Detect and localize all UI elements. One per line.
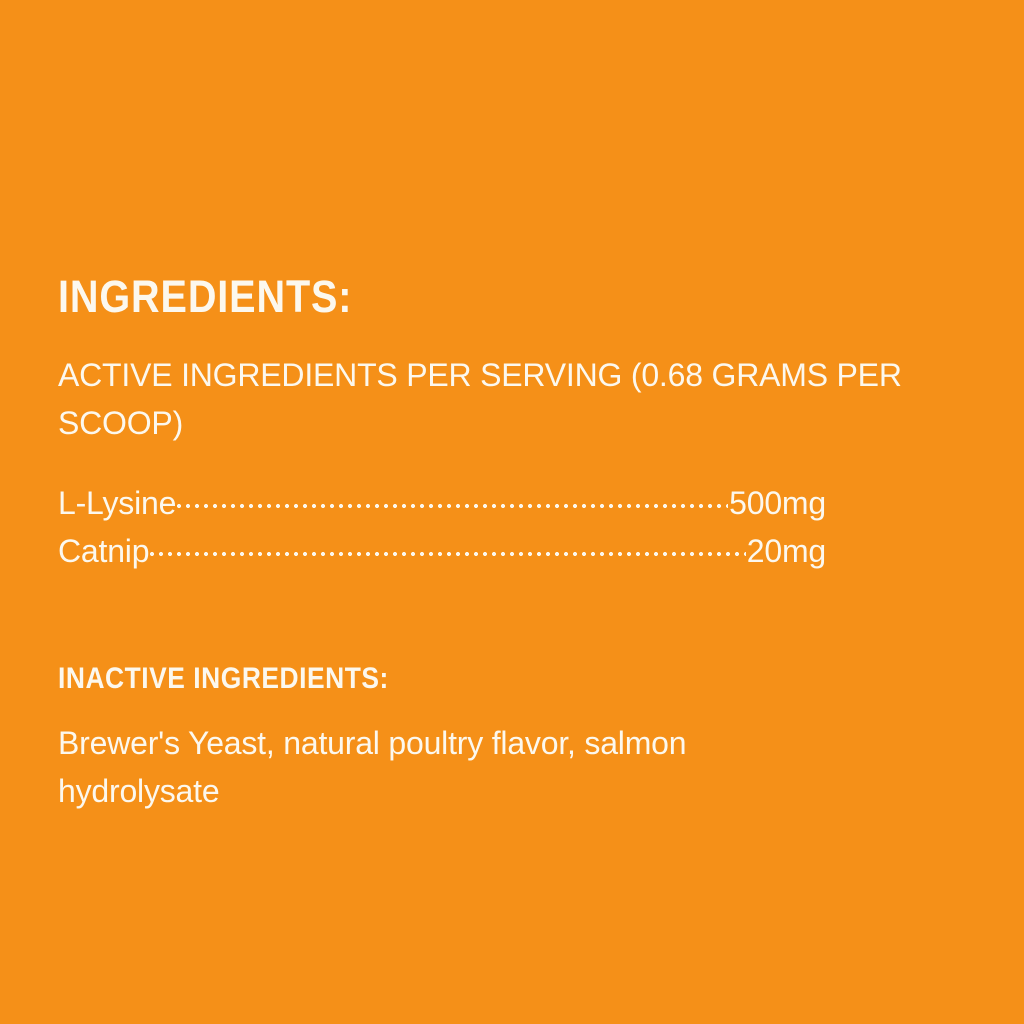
ingredient-name: Catnip <box>58 527 149 575</box>
active-ingredient-list: L-Lysine 500mg Catnip 20mg <box>58 479 826 575</box>
ingredients-content: INGREDIENTS: ACTIVE INGREDIENTS PER SERV… <box>58 243 908 847</box>
dotted-leader-icon <box>150 530 745 562</box>
ingredient-amount: 500mg <box>729 479 826 527</box>
dotted-leader-icon <box>177 482 728 514</box>
ingredient-row: L-Lysine 500mg <box>58 479 826 527</box>
ingredient-name: L-Lysine <box>58 479 176 527</box>
ingredients-panel: INGREDIENTS: ACTIVE INGREDIENTS PER SERV… <box>0 0 1024 1024</box>
inactive-ingredients-body: Brewer's Yeast, natural poultry flavor, … <box>58 719 818 815</box>
ingredient-amount: 20mg <box>747 527 826 575</box>
serving-note: ACTIVE INGREDIENTS PER SERVING (0.68 GRA… <box>58 351 903 447</box>
inactive-section: INACTIVE INGREDIENTS: Brewer's Yeast, na… <box>58 663 908 815</box>
page-title: INGREDIENTS: <box>58 273 806 320</box>
ingredient-row: Catnip 20mg <box>58 527 826 575</box>
inactive-ingredients-title: INACTIVE INGREDIENTS: <box>58 663 806 695</box>
